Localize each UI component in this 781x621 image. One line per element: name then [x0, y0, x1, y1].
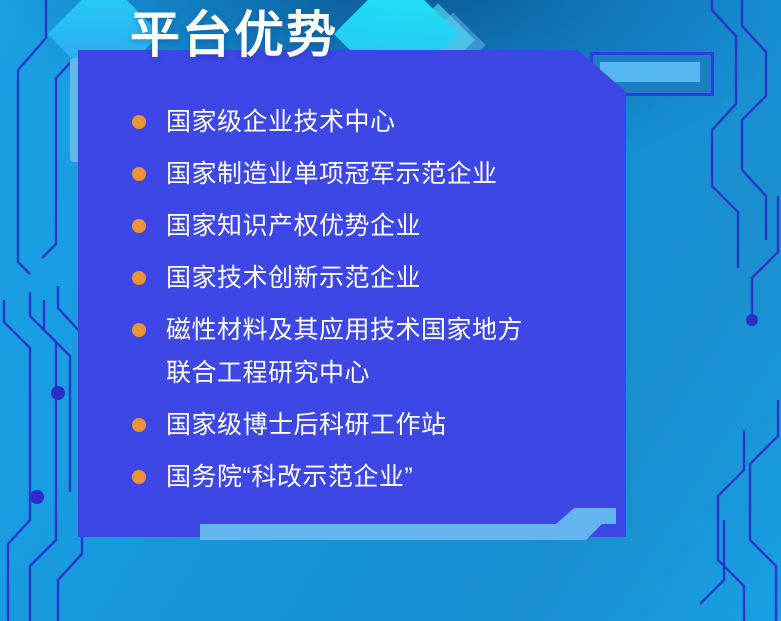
list-item-continuation: 联合工程研究中心 — [132, 355, 602, 392]
list-item-label: 国家级企业技术中心 — [166, 104, 396, 141]
page-title: 平台优势 — [130, 10, 338, 60]
bullet-dot-icon — [132, 219, 146, 233]
circuit-node-dot — [746, 314, 758, 326]
list-item: 国家知识产权优势企业 — [132, 208, 602, 245]
list-item-label: 国家级博士后科研工作站 — [166, 407, 447, 444]
list-item-label: 国务院“科改示范企业” — [166, 459, 413, 496]
bullet-dot-icon — [132, 167, 146, 181]
list-item-label: 联合工程研究中心 — [166, 355, 370, 392]
bullet-dot-icon — [132, 271, 146, 285]
bullet-dot-icon — [132, 470, 146, 484]
bullet-dot-icon — [132, 323, 146, 337]
list-item: 国家制造业单项冠军示范企业 — [132, 156, 602, 193]
list-item: 磁性材料及其应用技术国家地方 — [132, 312, 602, 349]
circuit-node-dot — [30, 490, 44, 504]
list-item-label: 国家制造业单项冠军示范企业 — [166, 156, 498, 193]
list-item-label: 国家技术创新示范企业 — [166, 260, 421, 297]
list-item: 国家级企业技术中心 — [132, 104, 602, 141]
slide-canvas: 平台优势 国家级企业技术中心 国家制造业单项冠军示范企业 国家知识产权优势企业 … — [0, 0, 781, 621]
list-item-label: 国家知识产权优势企业 — [166, 208, 421, 245]
bullet-dot-placeholder — [132, 366, 146, 380]
bullet-dot-icon — [132, 115, 146, 129]
list-item: 国家技术创新示范企业 — [132, 260, 602, 297]
bullet-dot-icon — [132, 418, 146, 432]
list-item: 国务院“科改示范企业” — [132, 459, 602, 496]
advantages-list: 国家级企业技术中心 国家制造业单项冠军示范企业 国家知识产权优势企业 国家技术创… — [132, 104, 602, 511]
circuit-node-dot — [51, 386, 65, 400]
list-item: 国家级博士后科研工作站 — [132, 407, 602, 444]
list-item-label: 磁性材料及其应用技术国家地方 — [166, 312, 523, 349]
corner-frame-inner-decoration — [600, 62, 700, 82]
